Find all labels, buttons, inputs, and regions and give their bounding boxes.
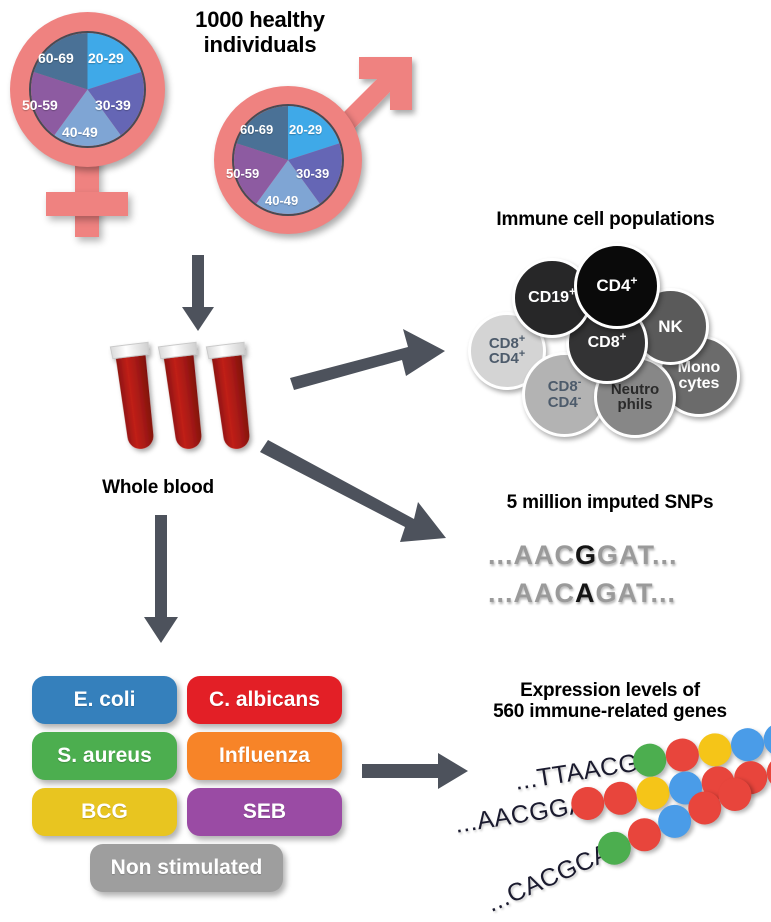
dna-bead: [663, 736, 701, 774]
expression-levels-title: Expression levels of 560 immune-related …: [450, 680, 770, 723]
expression-dna-strands: ...TTAACGG ...AACGGAT ...CACGCAA: [440, 740, 771, 922]
snp-variant: G: [575, 540, 597, 570]
stimulation-pill-non-stimulated[interactable]: Non stimulated: [90, 844, 283, 892]
stimulation-label: Non stimulated: [111, 856, 263, 880]
male-gender-symbol: 20-29 30-39 40-49 50-59 60-69: [204, 38, 424, 248]
snp-prefix: ...AAC: [488, 578, 575, 608]
diagram-canvas: 1000 healthy individuals 20-29 30-39 40-…: [0, 0, 771, 922]
snp-suffix: GAT...: [596, 578, 677, 608]
stimulation-label: BCG: [81, 800, 128, 824]
immune-cell-label: CD8+: [588, 335, 627, 351]
arrow-blood-to-snp: [268, 440, 453, 550]
stimulation-label: Influenza: [219, 744, 310, 768]
female-symbol-crossbar: [46, 192, 128, 216]
dna-bead: [569, 785, 607, 823]
immune-cell-cluster: CD8+ CD4+ CD8- CD4- Mono cytes Neutro ph…: [460, 240, 760, 420]
female-pie-label-30-39: 30-39: [95, 97, 131, 113]
stimulation-pill-seb[interactable]: SEB: [187, 788, 342, 836]
blood-tube-1: [110, 342, 161, 451]
male-pie-label-40-49: 40-49: [265, 193, 298, 208]
blood-tubes-svg: [108, 338, 278, 473]
arrow-blood-to-immune: [290, 318, 450, 388]
immune-cell-label: CD8- CD4-: [548, 379, 582, 410]
male-pie-label-30-39: 30-39: [296, 166, 329, 181]
stimulation-pill-e-coli[interactable]: E. coli: [32, 676, 177, 724]
immune-cell-cd4pos: CD4+: [574, 243, 660, 329]
stimulation-label: C. albicans: [209, 688, 320, 712]
arrow-cohort-to-blood: [178, 255, 218, 333]
male-pie-label-20-29: 20-29: [289, 122, 322, 137]
female-pie-label-40-49: 40-49: [62, 124, 98, 140]
snp-prefix: ...AAC: [488, 540, 575, 570]
stimulation-pill-influenza[interactable]: Influenza: [187, 732, 342, 780]
dna-bead: [696, 731, 734, 769]
dna-bead: [761, 721, 771, 759]
immune-cell-label: CD19+: [528, 290, 576, 306]
female-pie-label-50-59: 50-59: [22, 97, 58, 113]
stimulation-pill-s-aureus[interactable]: S. aureus: [32, 732, 177, 780]
dna-bead: [631, 741, 669, 779]
immune-cell-label: Neutro phils: [611, 382, 659, 413]
whole-blood-label: Whole blood: [88, 477, 228, 498]
male-pie-label-50-59: 50-59: [226, 166, 259, 181]
stimulation-label: E. coli: [74, 688, 136, 712]
dna-bead: [601, 779, 639, 817]
immune-cell-label: CD4+: [596, 277, 637, 294]
snp-title: 5 million imputed SNPs: [460, 492, 760, 513]
immune-cell-label: CD8+ CD4+: [489, 336, 525, 367]
stimulation-label: SEB: [243, 800, 286, 824]
blood-tube-3: [206, 342, 257, 451]
male-pie-label-60-69: 60-69: [240, 122, 273, 137]
female-pie-label-20-29: 20-29: [88, 50, 124, 66]
snp-suffix: GAT...: [597, 540, 678, 570]
blood-tube-2: [158, 342, 209, 451]
immune-cell-label: NK: [658, 318, 683, 335]
stimulation-pill-c-albicans[interactable]: C. albicans: [187, 676, 342, 724]
whole-blood-tubes: [108, 338, 278, 473]
snp-variant: A: [575, 578, 596, 608]
immune-cell-label: Mono cytes: [678, 360, 721, 393]
arrow-blood-to-stimulations: [140, 515, 184, 645]
female-gender-symbol: 20-29 30-39 40-49 50-59 60-69: [10, 12, 200, 237]
stimulation-pill-bcg[interactable]: BCG: [32, 788, 177, 836]
snp-allele-row-1: ...AACGGAT...: [488, 540, 678, 571]
stimulation-label: S. aureus: [57, 744, 152, 768]
stimulation-panel: E. coli C. albicans S. aureus Influenza …: [32, 676, 342, 896]
dna-bead: [729, 726, 767, 764]
immune-cell-populations-title: Immune cell populations: [448, 209, 763, 230]
female-pie-label-60-69: 60-69: [38, 50, 74, 66]
snp-allele-row-2: ...AACAGAT...: [488, 578, 676, 609]
